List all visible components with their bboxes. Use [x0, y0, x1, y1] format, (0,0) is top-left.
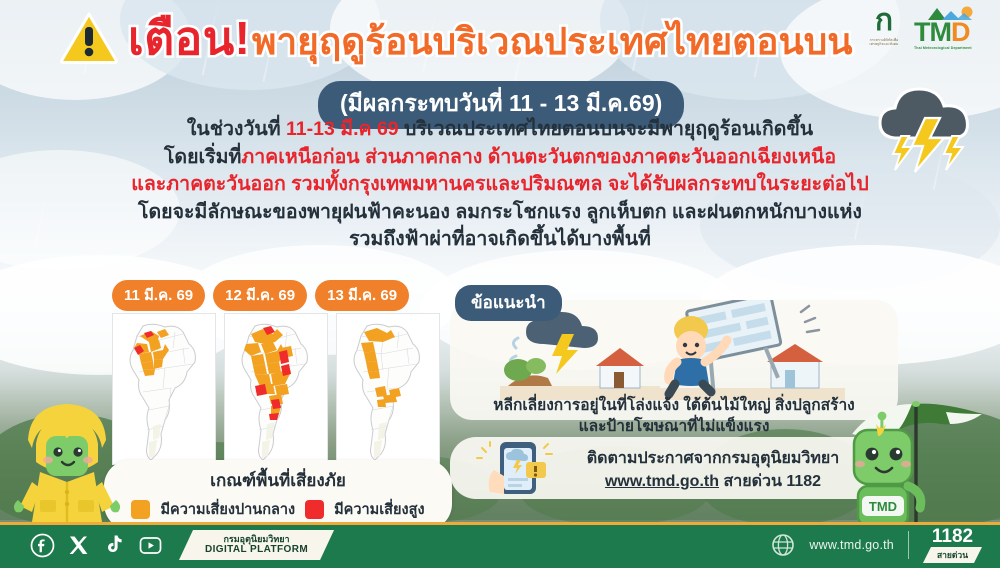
map-cards	[112, 313, 442, 465]
body-line-2: โดยเริ่มที่ภาคเหนือก่อน ส่วนภาคกลาง ด้าน…	[0, 144, 1000, 172]
contact-text: ติดตามประกาศจากกรมอุตุนิยมวิทยา www.tmd.…	[548, 447, 878, 493]
map-date-pill-2: 12 มี.ค. 69	[213, 280, 307, 311]
hotline-label: สายด่วน	[923, 547, 982, 563]
map-date-pill-1: 11 มี.ค. 69	[112, 280, 205, 311]
warning-triangle-icon	[60, 12, 118, 64]
advice-text-line-1: หลีกเลี่ยงการอยู่ในที่โล่งแจ้ง ใต้ต้นไม้…	[452, 395, 896, 416]
risk-map-group: 11 มี.ค. 69 12 มี.ค. 69 13 มี.ค. 69	[112, 280, 442, 470]
body-line-4: โดยจะมีลักษณะของพายุฝนฟ้าคะนอง ลมกระโชกแ…	[0, 199, 1000, 227]
map-date-pill-3: 13 มี.ค. 69	[315, 280, 409, 311]
body-line-1: ในช่วงวันที่ 11-13 มี.ค 69 บริเวณประเทศไ…	[0, 116, 1000, 144]
storm-cloud-fallen-tree-house-icon	[500, 308, 660, 400]
footer-divider	[908, 531, 909, 559]
advice-text: หลีกเลี่ยงการอยู่ในที่โล่งแจ้ง ใต้ต้นไม้…	[452, 395, 896, 437]
platform-th-label: กรมอุตุนิยมวิทยา	[223, 534, 289, 544]
warning-label: เตือน!	[128, 15, 251, 61]
page-title: พายุฤดูร้อนบริเวณประเทศไทยตอนบน	[252, 22, 853, 63]
legend-title: เกณฑ์พื้นที่เสี่ยงภัย	[114, 467, 442, 494]
footer-contact: www.tmd.go.th 1182 สายด่วน	[770, 527, 982, 563]
contact-line-1: ติดตามประกาศจากกรมอุตุนิยมวิทยา	[548, 447, 878, 470]
raincoat-mascot	[6, 388, 128, 534]
tmd-logo: TMD Thai Meteorological Department	[914, 6, 992, 52]
footer-website[interactable]: www.tmd.go.th	[809, 538, 894, 552]
facebook-icon[interactable]	[30, 533, 55, 558]
svg-text:TMD: TMD	[869, 499, 897, 514]
social-icons	[30, 533, 163, 558]
legend-label-moderate: มีความเสี่ยงปานกลาง	[160, 498, 295, 521]
digital-platform-tag: กรมอุตุนิยมวิทยา DIGITAL PLATFORM	[179, 530, 334, 560]
legend-swatch-moderate	[131, 500, 150, 519]
footer-bar: กรมอุตุนิยมวิทยา DIGITAL PLATFORM www.tm…	[0, 522, 1000, 568]
risk-legend: เกณฑ์พื้นที่เสี่ยงภัย มีความเสี่ยงปานกลา…	[104, 460, 452, 530]
tmd-robot-umbrella-mascot: TMD	[846, 380, 996, 538]
globe-icon	[770, 533, 795, 558]
body-line-5: รวมถึงฟ้าผ่าที่อาจเกิดขึ้นได้บางพื้นที่	[0, 226, 1000, 254]
advice-text-line-2: และป้ายโฆษณาที่ไม่แข็งแรง	[452, 416, 896, 437]
infographic-poster: เตือน! พายุฤดูร้อนบริเวณประเทศไทยตอนบน (…	[0, 0, 1000, 568]
contact-hotline: สายด่วน 1182	[719, 473, 821, 490]
smartphone-alert-icon	[474, 440, 558, 498]
body-line-3: และภาคตะวันออก รวมทั้งกรุงเทพมหานครและปร…	[0, 171, 1000, 199]
risk-map-day-2	[224, 313, 328, 465]
ministry-logo: ก กระทรวงดิจิทัลเพื่อเศรษฐกิจและสังคม	[864, 6, 904, 52]
legend-label-high: มีความเสี่ยงสูง	[334, 498, 424, 521]
x-twitter-icon[interactable]	[66, 533, 91, 558]
ministry-logo-subtitle: กระทรวงดิจิทัลเพื่อเศรษฐกิจและสังคม	[864, 38, 904, 46]
body-paragraph: ในช่วงวันที่ 11-13 มี.ค 69 บริเวณประเทศไ…	[0, 116, 1000, 254]
risk-map-day-3	[336, 313, 440, 465]
warning-header: เตือน!	[60, 12, 251, 64]
tmd-website-link[interactable]: www.tmd.go.th	[605, 473, 719, 490]
map-date-pills: 11 มี.ค. 69 12 มี.ค. 69 13 มี.ค. 69	[112, 280, 442, 311]
platform-en-label: DIGITAL PLATFORM	[205, 544, 308, 556]
ministry-logo-mark: ก	[864, 6, 904, 36]
tiktok-icon[interactable]	[102, 533, 127, 558]
footer-hotline: 1182 สายด่วน	[923, 527, 982, 563]
tmd-logo-text: TMD	[914, 19, 992, 46]
advice-badge: ข้อแนะนำ	[455, 285, 562, 321]
legend-items: มีความเสี่ยงปานกลาง มีความเสี่ยงสูง	[114, 498, 442, 521]
tmd-logo-subtitle: Thai Meteorological Department	[914, 46, 992, 50]
worker-billboard-icon	[655, 300, 845, 400]
tmd-logo-hills-icon	[928, 6, 974, 20]
contact-line-2: www.tmd.go.th สายด่วน 1182	[548, 470, 878, 493]
youtube-icon[interactable]	[138, 533, 163, 558]
legend-swatch-high	[305, 500, 324, 519]
logo-group: ก กระทรวงดิจิทัลเพื่อเศรษฐกิจและสังคม TM…	[864, 6, 992, 52]
hotline-number: 1182	[923, 527, 982, 546]
